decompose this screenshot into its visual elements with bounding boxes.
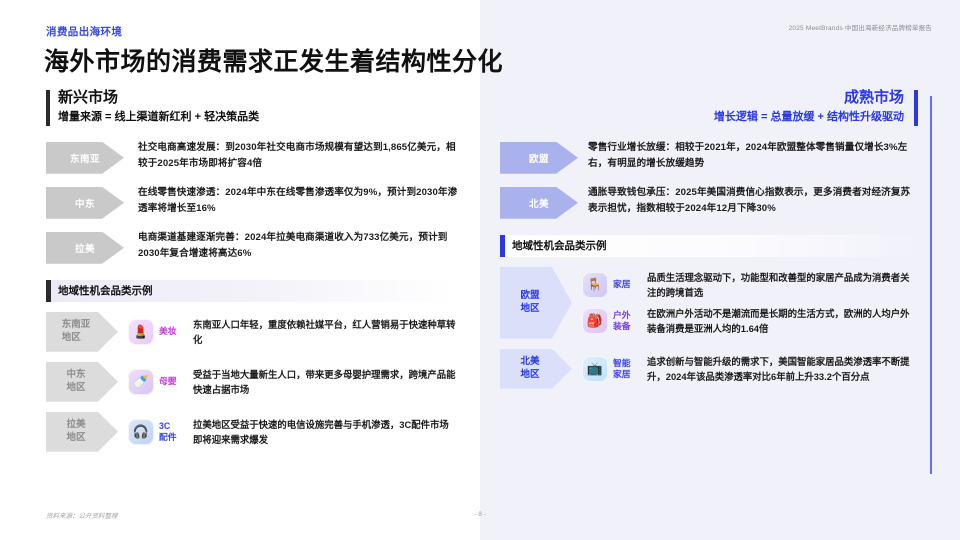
emerging-markets-panel: 新兴市场 增量来源 = 线上渠道新红利 + 轻决策品类 东南亚 社交电商高速发展… bbox=[46, 88, 458, 462]
eyebrow-label: 消费品出海环境 bbox=[46, 24, 122, 39]
category-label: 美妆 bbox=[159, 326, 187, 337]
row-description: 零售行业增长放缓：相较于2021年，2024年欧盟整体零售销量仅增长3%左右，有… bbox=[588, 140, 918, 172]
right-panel-subtitle: 增长逻辑 = 总量放缓 + 结构性升级驱动 bbox=[500, 109, 904, 126]
region-tag: 中东 地区 bbox=[46, 362, 118, 402]
table-row: 中东 地区 🍼 母婴 受益于当地大量新生人口，带来更多母婴护理需求，跨境产品能快… bbox=[46, 362, 458, 402]
region-tag: 拉美 地区 bbox=[46, 412, 118, 452]
list-item: 🪑 家居 品质生活理念驱动下，功能型和改善型的家居产品成为消费者关注的跨境首选 bbox=[582, 270, 918, 300]
backpack-icon: 🎒 bbox=[582, 308, 608, 334]
category-items: 💄 美妆 东南亚人口年轻，重度依赖社媒平台，红人营销易于快速种草转化 bbox=[128, 317, 458, 347]
category-description: 受益于当地大量新生人口，带来更多母婴护理需求，跨境产品能快速占据市场 bbox=[193, 367, 458, 397]
list-item: 拉美 电商渠道基建逐渐完善：2024年拉美电商渠道收入为733亿美元，预计到20… bbox=[46, 230, 458, 264]
category-description: 东南亚人口年轻，重度依赖社媒平台，红人营销易于快速种草转化 bbox=[193, 317, 458, 347]
category-description: 追求创新与智能升级的需求下，美国智能家居品类渗透率不断提升，2024年该品类渗透… bbox=[647, 354, 918, 384]
category-description: 在欧洲户外活动不是潮流而是长期的生活方式，欧洲的人均户外装备消费是亚洲人均的1.… bbox=[647, 306, 918, 336]
left-section-header: 地域性机会品类示例 bbox=[46, 280, 458, 302]
stroller-icon: 🍼 bbox=[128, 369, 154, 395]
table-row: 东南亚 地区 💄 美妆 东南亚人口年轻，重度依赖社媒平台，红人营销易于快速种草转… bbox=[46, 312, 458, 352]
slide-root: 2025 MeetBrands 中国出海新经济品牌榜单报告 消费品出海环境 海外… bbox=[0, 0, 960, 540]
right-accent-bar bbox=[914, 90, 918, 126]
region-tag: 拉美 bbox=[46, 232, 124, 264]
row-description: 在线零售快速渗透：2024年中东在线零售渗透率仅为9%，预计到2030年渗透率将… bbox=[138, 185, 458, 217]
list-item: 🍼 母婴 受益于当地大量新生人口，带来更多母婴护理需求，跨境产品能快速占据市场 bbox=[128, 367, 458, 397]
category-description: 拉美地区受益于快速的电信设施完善与手机渗透，3C配件市场即将迎来需求爆发 bbox=[193, 417, 458, 447]
category-items: 🍼 母婴 受益于当地大量新生人口，带来更多母婴护理需求，跨境产品能快速占据市场 bbox=[128, 367, 458, 397]
left-bullet-rows: 东南亚 社交电商高速发展：到2030年社交电商市场规模有望达到1,865亿美元，… bbox=[46, 140, 458, 264]
region-tag: 东南亚 地区 bbox=[46, 312, 118, 352]
list-item: 🎒 户外 装备 在欧洲户外活动不是潮流而是长期的生活方式，欧洲的人均户外装备消费… bbox=[582, 306, 918, 336]
left-section-title: 地域性机会品类示例 bbox=[58, 283, 153, 298]
page-number: - 8 - bbox=[0, 511, 960, 518]
left-panel-subtitle: 增量来源 = 线上渠道新红利 + 轻决策品类 bbox=[58, 109, 458, 126]
category-label: 3C 配件 bbox=[159, 421, 187, 442]
table-row: 北美 地区 📺 智能 家居 追求创新与智能升级的需求下，美国智能家居品类渗透率不… bbox=[500, 349, 918, 389]
list-item: 欧盟 零售行业增长放缓：相较于2021年，2024年欧盟整体零售销量仅增长3%左… bbox=[500, 140, 918, 174]
category-label: 母婴 bbox=[159, 376, 187, 387]
left-accent-bar bbox=[46, 90, 50, 126]
row-description: 社交电商高速发展：到2030年社交电商市场规模有望达到1,865亿美元，相较于2… bbox=[138, 140, 458, 172]
list-item: 东南亚 社交电商高速发展：到2030年社交电商市场规模有望达到1,865亿美元，… bbox=[46, 140, 458, 174]
category-items: 🎧 3C 配件 拉美地区受益于快速的电信设施完善与手机渗透，3C配件市场即将迎来… bbox=[128, 417, 458, 447]
right-bullet-rows: 欧盟 零售行业增长放缓：相较于2021年，2024年欧盟整体零售销量仅增长3%左… bbox=[500, 140, 918, 219]
region-tag: 欧盟 地区 bbox=[500, 267, 572, 339]
category-label: 户外 装备 bbox=[613, 310, 641, 331]
cosmetics-icon: 💄 bbox=[128, 319, 154, 345]
list-item: 中东 在线零售快速渗透：2024年中东在线零售渗透率仅为9%，预计到2030年渗… bbox=[46, 185, 458, 219]
smart-home-icon: 📺 bbox=[582, 356, 608, 382]
document-header-label: 2025 MeetBrands 中国出海新经济品牌榜单报告 bbox=[789, 22, 932, 32]
table-row: 欧盟 地区 🪑 家居 品质生活理念驱动下，功能型和改善型的家居产品成为消费者关注… bbox=[500, 267, 918, 339]
list-item: 北美 通胀导致钱包承压：2025年美国消费信心指数表示，更多消费者对经济复苏表示… bbox=[500, 185, 918, 219]
right-category-rows: 欧盟 地区 🪑 家居 品质生活理念驱动下，功能型和改善型的家居产品成为消费者关注… bbox=[500, 267, 918, 389]
right-section-accent-bar bbox=[500, 235, 505, 257]
list-item: 💄 美妆 东南亚人口年轻，重度依赖社媒平台，红人营销易于快速种草转化 bbox=[128, 317, 458, 347]
category-description: 品质生活理念驱动下，功能型和改善型的家居产品成为消费者关注的跨境首选 bbox=[647, 270, 918, 300]
region-tag: 北美 bbox=[500, 187, 578, 219]
headphones-icon: 🎧 bbox=[128, 419, 154, 445]
category-items: 📺 智能 家居 追求创新与智能升级的需求下，美国智能家居品类渗透率不断提升，20… bbox=[582, 354, 918, 384]
region-tag: 北美 地区 bbox=[500, 349, 572, 389]
region-tag: 中东 bbox=[46, 187, 124, 219]
left-panel-title: 新兴市场 bbox=[58, 88, 458, 108]
furniture-icon: 🪑 bbox=[582, 272, 608, 298]
region-tag: 东南亚 bbox=[46, 142, 124, 174]
right-section-title: 地域性机会品类示例 bbox=[512, 238, 607, 253]
list-item: 📺 智能 家居 追求创新与智能升级的需求下，美国智能家居品类渗透率不断提升，20… bbox=[582, 354, 918, 384]
page-title: 海外市场的消费需求正发生着结构性分化 bbox=[44, 42, 503, 78]
row-description: 电商渠道基建逐渐完善：2024年拉美电商渠道收入为733亿美元，预计到2030年… bbox=[138, 230, 458, 262]
row-description: 通胀导致钱包承压：2025年美国消费信心指数表示，更多消费者对经济复苏表示担忧，… bbox=[588, 185, 918, 217]
table-row: 拉美 地区 🎧 3C 配件 拉美地区受益于快速的电信设施完善与手机渗透，3C配件… bbox=[46, 412, 458, 452]
left-panel-header: 新兴市场 增量来源 = 线上渠道新红利 + 轻决策品类 bbox=[46, 88, 458, 126]
right-panel-header: 成熟市场 增长逻辑 = 总量放缓 + 结构性升级驱动 bbox=[500, 88, 918, 126]
left-section-accent-bar bbox=[46, 280, 51, 302]
right-panel-title: 成熟市场 bbox=[500, 88, 904, 108]
mature-markets-panel: 成熟市场 增长逻辑 = 总量放缓 + 结构性升级驱动 欧盟 零售行业增长放缓：相… bbox=[500, 88, 918, 399]
category-label: 家居 bbox=[613, 279, 641, 290]
left-category-rows: 东南亚 地区 💄 美妆 东南亚人口年轻，重度依赖社媒平台，红人营销易于快速种草转… bbox=[46, 312, 458, 452]
category-label: 智能 家居 bbox=[613, 358, 641, 379]
category-items: 🪑 家居 品质生活理念驱动下，功能型和改善型的家居产品成为消费者关注的跨境首选 … bbox=[582, 270, 918, 336]
right-panel-divider bbox=[930, 96, 932, 474]
region-tag: 欧盟 bbox=[500, 142, 578, 174]
list-item: 🎧 3C 配件 拉美地区受益于快速的电信设施完善与手机渗透，3C配件市场即将迎来… bbox=[128, 417, 458, 447]
right-section-header: 地域性机会品类示例 bbox=[500, 235, 918, 257]
